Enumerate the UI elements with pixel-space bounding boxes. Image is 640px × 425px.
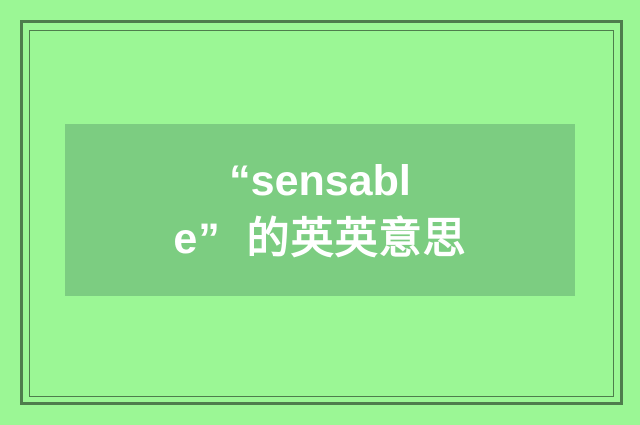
title-panel: “sensabl e” 的英英意思 (65, 124, 575, 296)
title-line-1: “sensabl (229, 152, 411, 210)
page-canvas: “sensabl e” 的英英意思 (0, 0, 640, 425)
title-line-2: e” 的英英意思 (173, 210, 466, 268)
